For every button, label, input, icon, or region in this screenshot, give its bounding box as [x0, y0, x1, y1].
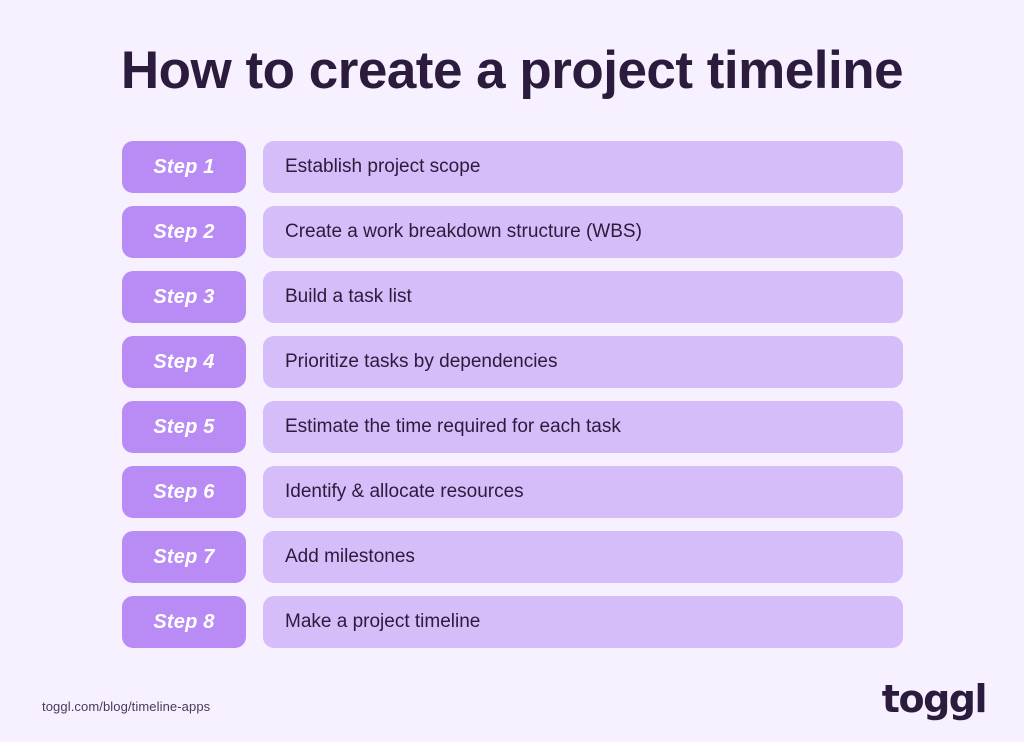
- step-row: Step 4Prioritize tasks by dependencies: [122, 336, 903, 388]
- step-row: Step 5Estimate the time required for eac…: [122, 401, 903, 453]
- step-row: Step 1Establish project scope: [122, 141, 903, 193]
- step-row: Step 2Create a work breakdown structure …: [122, 206, 903, 258]
- steps-list: Step 1Establish project scopeStep 2Creat…: [122, 141, 903, 661]
- step-row: Step 3Build a task list: [122, 271, 903, 323]
- step-label: Identify & allocate resources: [263, 466, 903, 518]
- step-row: Step 7Add milestones: [122, 531, 903, 583]
- step-label: Make a project timeline: [263, 596, 903, 648]
- step-badge: Step 8: [122, 596, 246, 648]
- step-row: Step 6Identify & allocate resources: [122, 466, 903, 518]
- step-badge: Step 4: [122, 336, 246, 388]
- step-badge: Step 1: [122, 141, 246, 193]
- step-badge: Step 2: [122, 206, 246, 258]
- toggl-logo-text: toggl: [882, 680, 986, 718]
- step-badge: Step 7: [122, 531, 246, 583]
- step-badge: Step 3: [122, 271, 246, 323]
- step-badge: Step 6: [122, 466, 246, 518]
- step-label: Add milestones: [263, 531, 903, 583]
- step-label: Build a task list: [263, 271, 903, 323]
- step-label: Estimate the time required for each task: [263, 401, 903, 453]
- step-label: Prioritize tasks by dependencies: [263, 336, 903, 388]
- footer-url: toggl.com/blog/timeline-apps: [42, 699, 210, 714]
- page-title: How to create a project timeline: [0, 42, 1024, 100]
- step-label: Create a work breakdown structure (WBS): [263, 206, 903, 258]
- step-row: Step 8Make a project timeline: [122, 596, 903, 648]
- infographic-poster: How to create a project timeline Step 1E…: [0, 0, 1024, 742]
- toggl-logo: toggl: [882, 678, 986, 720]
- step-label: Establish project scope: [263, 141, 903, 193]
- step-badge: Step 5: [122, 401, 246, 453]
